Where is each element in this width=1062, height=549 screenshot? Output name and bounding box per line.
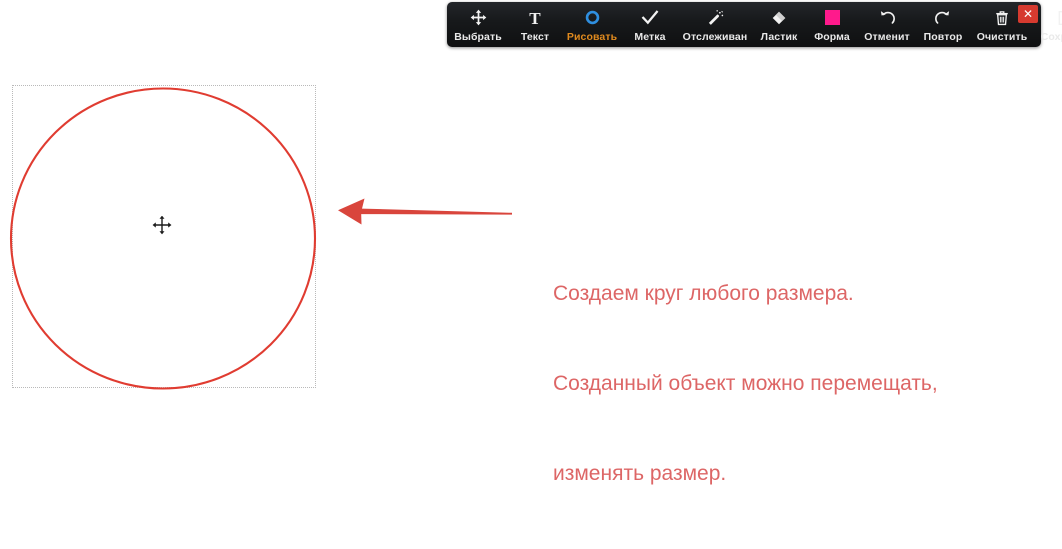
annotation-line-1: Создаем круг любого размера. — [553, 279, 1023, 309]
magic-wand-icon — [706, 7, 724, 28]
close-icon[interactable]: ✕ — [1018, 5, 1038, 23]
annotation-line-2: Созданный объект можно перемещать, — [553, 369, 1023, 399]
tool-text-label: Текст — [521, 31, 549, 43]
tool-draw-label: Рисовать — [567, 31, 617, 43]
tool-shape-color-label: Форма — [814, 31, 850, 43]
close-button-label: ✕ — [1023, 8, 1033, 20]
drawn-circle-shape[interactable] — [9, 87, 317, 390]
drawing-canvas[interactable]: Создаем круг любого размера. Созданный о… — [0, 0, 1062, 459]
tool-stamp[interactable]: Метка — [623, 2, 677, 47]
svg-text:T: T — [529, 9, 541, 27]
tool-eraser-label: Ластик — [761, 31, 798, 43]
annotation-arrow-icon — [336, 194, 518, 228]
tool-draw[interactable]: Рисовать — [561, 2, 623, 47]
save-download-icon — [1057, 7, 1062, 28]
tool-text[interactable]: T Текст — [509, 2, 561, 47]
annotation-line-3: изменять размер. — [553, 459, 1023, 489]
circle-outline-icon — [584, 7, 601, 28]
tool-spotlight[interactable]: Отслеживан — [677, 2, 753, 47]
text-t-icon: T — [526, 7, 544, 28]
tool-redo[interactable]: Повтор — [915, 2, 971, 47]
tool-clear-label: Очистить — [977, 31, 1028, 43]
trash-can-icon — [993, 7, 1011, 28]
color-swatch-icon — [825, 7, 840, 28]
tool-save-label: Сохранит — [1041, 31, 1062, 43]
tool-stamp-label: Метка — [634, 31, 665, 43]
move-cursor-icon — [151, 214, 173, 236]
tool-undo-label: Отменит — [864, 31, 910, 43]
undo-arrow-icon — [878, 7, 896, 28]
tool-select-label: Выбрать — [454, 31, 502, 43]
eraser-icon — [770, 7, 788, 28]
annotation-text: Создаем круг любого размера. Созданный о… — [553, 219, 1023, 549]
tool-undo[interactable]: Отменит — [859, 2, 915, 47]
move-arrows-icon — [470, 7, 487, 28]
redo-arrow-icon — [934, 7, 952, 28]
tool-select[interactable]: Выбрать — [447, 2, 509, 47]
tool-eraser[interactable]: Ластик — [753, 2, 805, 47]
checkmark-icon — [641, 7, 659, 28]
annotation-toolbar[interactable]: Выбрать T Текст Рисовать Метка — [447, 2, 1041, 47]
tool-redo-label: Повтор — [924, 31, 963, 43]
tool-shape-color[interactable]: Форма — [805, 2, 859, 47]
tool-spotlight-label: Отслеживан — [683, 31, 748, 43]
